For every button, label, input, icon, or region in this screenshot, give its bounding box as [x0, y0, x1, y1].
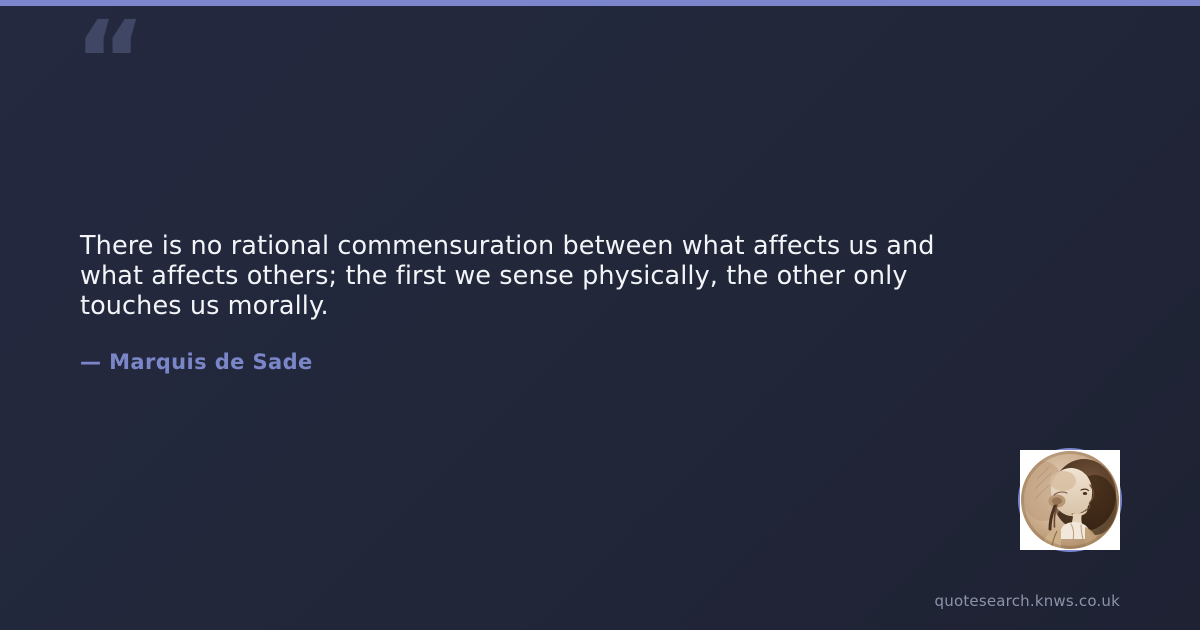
footer-site-credit: quotesearch.knws.co.uk — [935, 591, 1120, 611]
author-portrait-image — [1021, 451, 1119, 549]
quotation-mark-icon: “ — [74, 6, 144, 116]
quote-text: There is no rational commensuration betw… — [80, 231, 980, 321]
portrait-drawing-icon — [1021, 451, 1119, 549]
quote-card: “ There is no rational commensuration be… — [0, 0, 1200, 630]
quote-attribution: — Marquis de Sade — [80, 348, 313, 376]
top-accent-bar — [0, 0, 1200, 6]
author-portrait — [1020, 450, 1120, 550]
